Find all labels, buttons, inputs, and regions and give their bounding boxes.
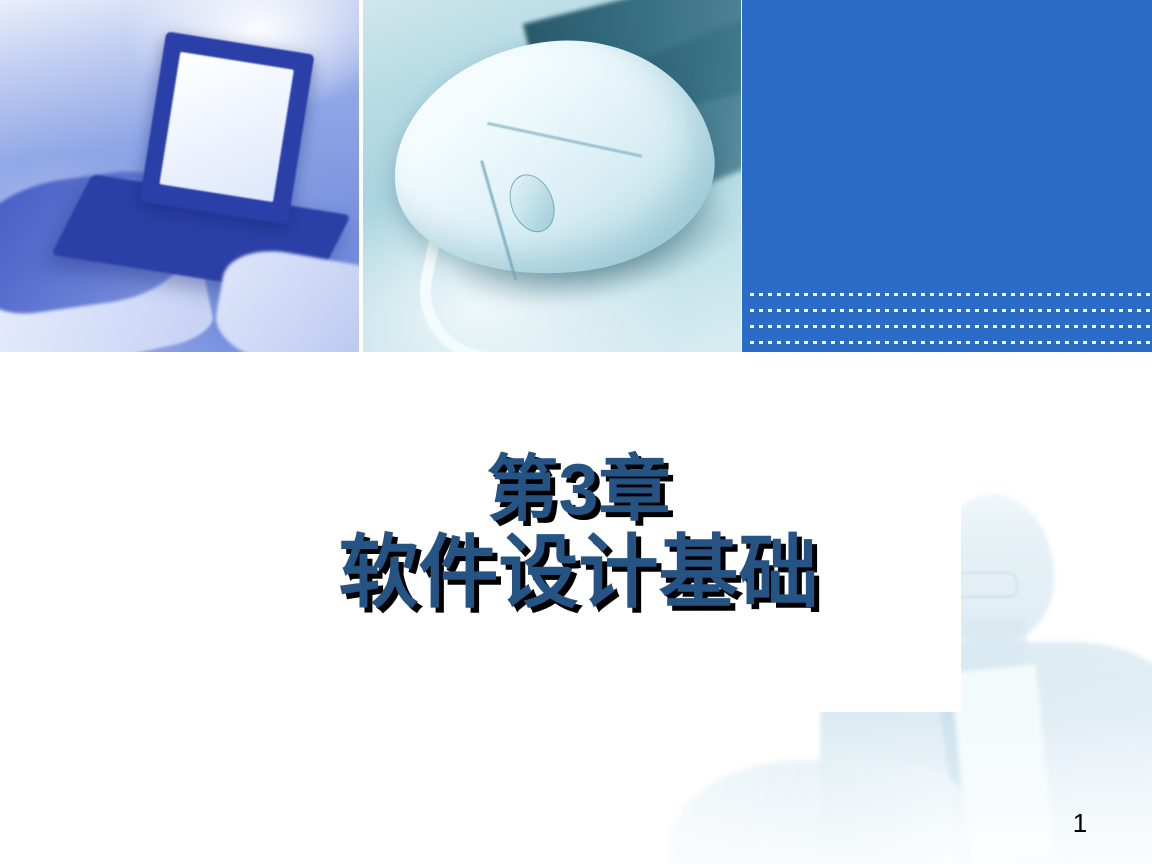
mouse-button-split-shape	[480, 160, 517, 280]
watermark-neck-shape	[960, 616, 1026, 686]
laptop-screen-shape	[139, 31, 314, 224]
dotted-rule-2	[750, 309, 1152, 312]
slide-number: 1	[1060, 808, 1100, 839]
slide-title-line-1: 第3章	[196, 452, 961, 530]
watermark-shirt-shape	[950, 664, 1056, 864]
presentation-slide: 第3章 软件设计基础 1	[0, 0, 1152, 864]
dotted-rule-4	[750, 341, 1152, 344]
mouse-scroll-wheel-shape	[501, 168, 562, 239]
slide-title-line-2: 软件设计基础	[196, 530, 961, 616]
dotted-rule-1	[750, 293, 1152, 296]
banner-panel-laptop-photo	[0, 0, 359, 352]
mouse-button-seam-shape	[487, 122, 642, 158]
banner-panel-mouse-photo	[363, 0, 741, 352]
slide-title: 第3章 软件设计基础	[196, 452, 961, 616]
watermark-arm-shape	[670, 760, 970, 864]
dotted-rule-3	[750, 325, 1152, 328]
banner-panel-blue-block	[742, 0, 1152, 352]
